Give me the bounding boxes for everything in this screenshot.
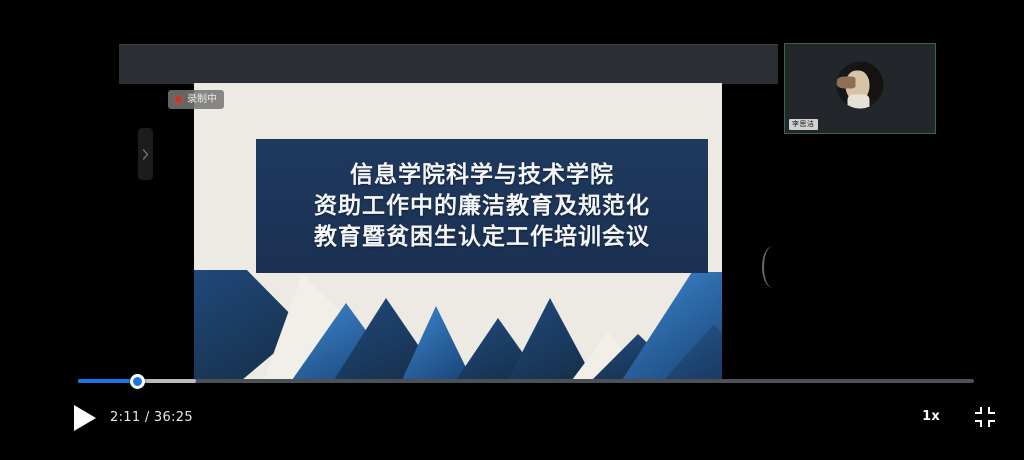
recording-label: 录制中 <box>187 90 217 109</box>
participant-name-label: 李思洁 <box>789 119 818 130</box>
recording-badge: 录制中 <box>168 90 224 109</box>
annotation-arc-mark <box>762 246 780 288</box>
play-button[interactable] <box>68 401 102 435</box>
player-controls-bar: 2:11 / 36:25 1x <box>0 380 1024 460</box>
chevron-right-icon <box>142 149 149 160</box>
progress-track <box>78 379 974 383</box>
slide-mountain-graphics <box>194 270 722 380</box>
avatar-arm <box>837 76 856 88</box>
recording-dot-icon <box>175 96 182 103</box>
progress-scrubber-handle[interactable] <box>130 374 145 389</box>
avatar-body <box>848 94 870 108</box>
slide-title-line-2: 资助工作中的廉洁教育及规范化 <box>314 191 650 222</box>
play-icon <box>72 404 98 432</box>
playback-speed-button[interactable]: 1x <box>922 408 940 426</box>
progress-played <box>78 379 137 383</box>
slide-title-band: 信息学院科学与技术学院 资助工作中的廉洁教育及规范化 教育暨贫困生认定工作培训会… <box>256 139 708 273</box>
side-panel-expand-handle[interactable] <box>138 128 153 180</box>
slide-title-line-1: 信息学院科学与技术学院 <box>350 160 614 191</box>
progress-bar[interactable] <box>78 378 974 384</box>
time-display: 2:11 / 36:25 <box>110 410 193 426</box>
presentation-slide: 信息学院科学与技术学院 资助工作中的廉洁教育及规范化 教育暨贫困生认定工作培训会… <box>194 83 722 380</box>
meeting-stage: 信息学院科学与技术学院 资助工作中的廉洁教育及规范化 教育暨贫困生认定工作培训会… <box>0 0 1024 380</box>
video-player: 信息学院科学与技术学院 资助工作中的廉洁教育及规范化 教育暨贫困生认定工作培训会… <box>0 0 1024 460</box>
avatar <box>837 61 884 108</box>
exit-fullscreen-icon <box>973 405 997 429</box>
participant-video-thumbnail[interactable]: 李思洁 <box>784 43 936 134</box>
slide-title-line-3: 教育暨贫困生认定工作培训会议 <box>314 222 650 253</box>
shared-window-titlebar <box>119 44 778 84</box>
exit-fullscreen-button[interactable] <box>973 405 997 429</box>
